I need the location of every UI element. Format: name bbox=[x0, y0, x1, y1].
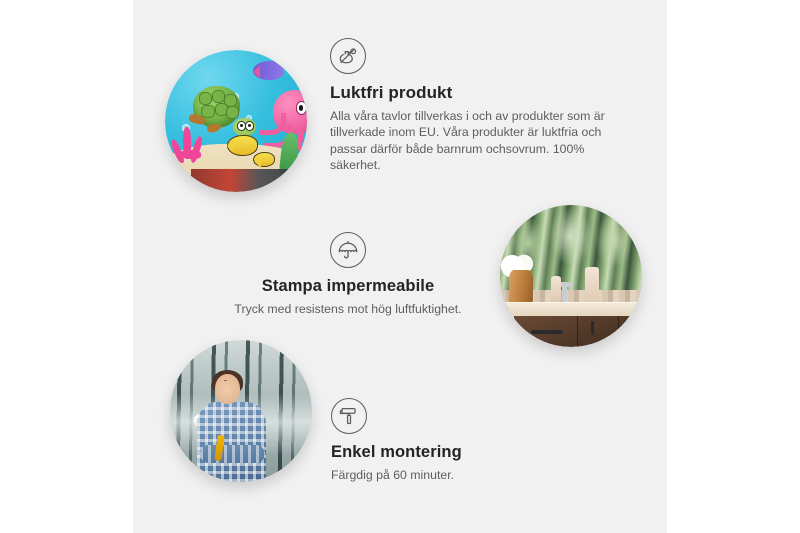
feature-body: Färgdig på 60 minuter. bbox=[331, 467, 591, 483]
paint-roller-icon bbox=[331, 398, 367, 434]
feature-title: Luktfri produkt bbox=[330, 83, 626, 103]
feature-title: Enkel montering bbox=[331, 443, 591, 462]
candle-icon bbox=[551, 276, 561, 302]
feature-body: Alla våra tavlor tillverkas i och av pro… bbox=[330, 108, 626, 174]
woman-paint-roller-forest-photo bbox=[170, 340, 312, 482]
candle-icon bbox=[585, 267, 599, 304]
product-feature-infographic: Luktfri produkt Alla våra tavlor tillver… bbox=[0, 0, 800, 533]
content-panel: Luktfri produkt Alla våra tavlor tillver… bbox=[133, 0, 667, 533]
bathroom-botanical-wallpaper-photo bbox=[500, 205, 642, 347]
yellow-fish-icon bbox=[227, 135, 257, 155]
no-odour-perfume-bottle-icon bbox=[330, 38, 366, 74]
feature-title: Stampa impermeabile bbox=[215, 277, 481, 296]
feature-easy-installation: Enkel montering Färgdig på 60 minuter. S… bbox=[331, 398, 591, 483]
blue-fish-icon bbox=[253, 61, 284, 79]
seafloor-strip bbox=[191, 169, 305, 192]
feature-body: Tryck med resistens mot hög luftfuktighe… bbox=[215, 301, 481, 317]
feature-odorless: Luktfri produkt Alla våra tavlor tillver… bbox=[330, 38, 626, 174]
image-alt-text: Cartoon underwater scene with a green tu… bbox=[330, 174, 331, 175]
coral-icon bbox=[171, 124, 219, 175]
image-alt-text: Smiling woman holding a paint roller in … bbox=[331, 483, 332, 484]
underwater-cartoon-mural-photo bbox=[165, 50, 307, 192]
feature-waterproof: Stampa impermeabile Tryck med resistens … bbox=[215, 232, 481, 317]
yellow-fish-icon bbox=[253, 152, 275, 167]
image-alt-text: Bathroom vanity with green botanical lea… bbox=[348, 317, 349, 318]
woman-figure bbox=[196, 374, 270, 482]
umbrella-water-resistant-icon bbox=[330, 232, 366, 268]
wood-vanity-cabinet bbox=[514, 316, 642, 347]
